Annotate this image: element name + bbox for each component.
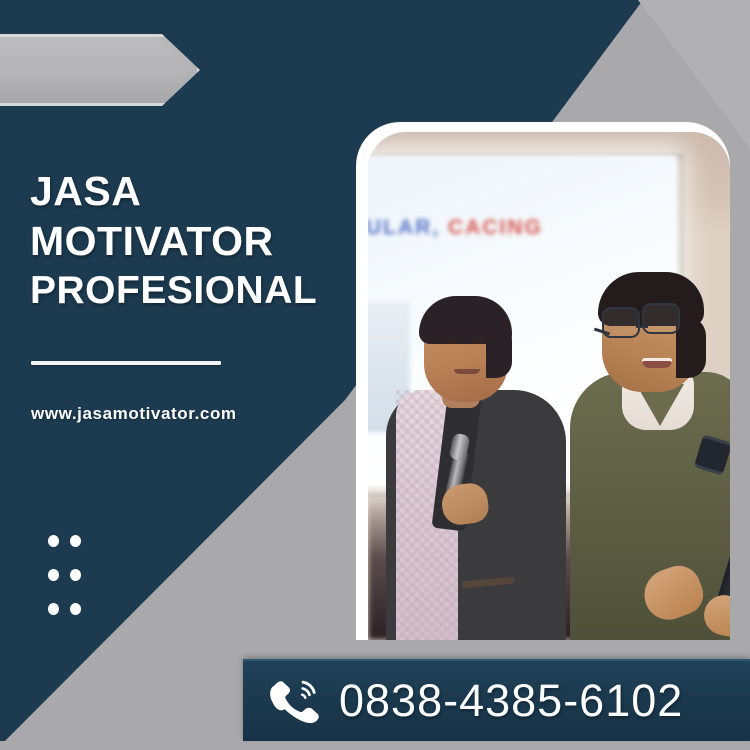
- dot: [48, 603, 59, 615]
- speaker-photo-frame: ULAR, CACING: [356, 122, 730, 640]
- dot: [48, 569, 59, 581]
- speaker-one-mouth: [454, 369, 480, 374]
- dot: [70, 569, 81, 581]
- speaker-one-eye-right: [473, 339, 485, 344]
- speaker-one: [386, 300, 566, 640]
- contact-bar[interactable]: 0838-4385-6102: [243, 659, 750, 741]
- speaker-photo: ULAR, CACING: [368, 132, 730, 640]
- speaker-one-brow-right: [472, 330, 487, 334]
- title-line-3: PROFESIONAL: [30, 266, 360, 316]
- title-line-1: JASA: [30, 166, 360, 216]
- speaker-two-hair-side: [676, 316, 706, 378]
- speaker-one-eye-left: [444, 339, 456, 344]
- dot: [70, 535, 81, 547]
- speaker-one-brow-left: [442, 330, 457, 334]
- speaker-two: [556, 240, 730, 640]
- glasses-lens-right: [642, 303, 680, 334]
- chevron-banner-inner: [0, 38, 192, 102]
- page-title: JASA MOTIVATOR PROFESIONAL: [30, 166, 360, 316]
- phone-number[interactable]: 0838-4385-6102: [339, 675, 683, 727]
- bottom-left-strip: [0, 741, 243, 750]
- speaker-one-hair-side: [486, 322, 512, 378]
- phone-ringing-icon: [269, 677, 323, 725]
- title-line-2: MOTIVATOR: [30, 216, 360, 266]
- title-divider: [31, 361, 221, 365]
- screen-text-red: CACING: [448, 216, 543, 239]
- screen-text-blue: ULAR,: [368, 216, 440, 239]
- dot: [48, 535, 59, 547]
- website-url[interactable]: www.jasamotivator.com: [31, 404, 237, 424]
- dot: [70, 603, 81, 615]
- projector-screen-text: ULAR, CACING: [368, 216, 543, 240]
- dot-grid-decoration: [48, 535, 81, 614]
- speaker-two-mouth: [642, 358, 672, 368]
- glasses-bridge: [636, 326, 648, 329]
- poster-canvas: ULAR, CACING: [0, 0, 750, 750]
